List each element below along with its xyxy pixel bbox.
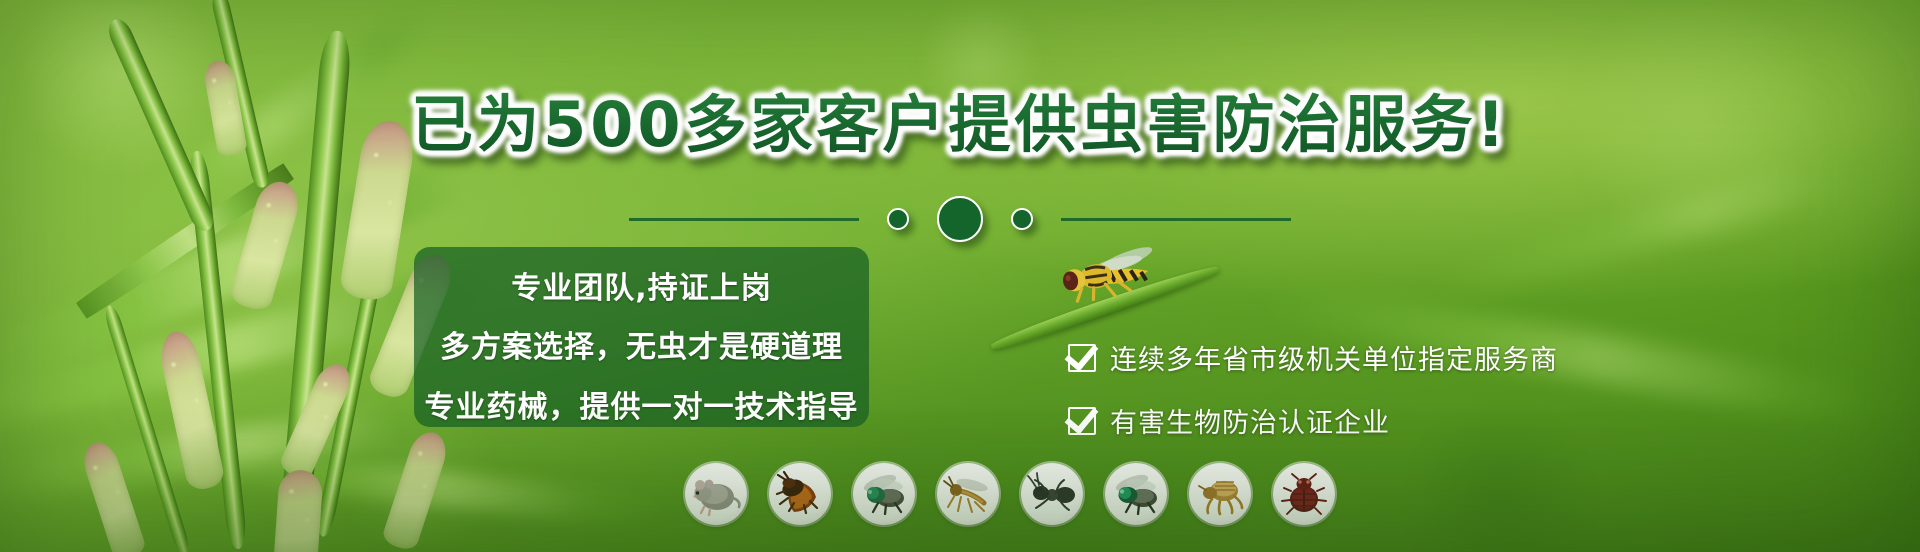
cockroach-icon[interactable] <box>769 463 831 525</box>
selling-point-line-1: 专业团队,持证上岗 <box>511 261 771 317</box>
promo-banner: 已为500多家客户提供虫害防治服务! 专业团队,持证上岗 多方案选择，无虫才是硬… <box>0 0 1920 552</box>
selling-points-panel: 专业团队,持证上岗 多方案选择，无虫才是硬道理 专业药械，提供一对一技术指导 <box>414 247 869 427</box>
list-item: 连续多年省市级机关单位指定服务商 <box>1068 338 1558 377</box>
mouse-icon[interactable] <box>685 463 747 525</box>
selling-point-line-3: 专业药械，提供一对一技术指导 <box>425 379 859 437</box>
page-title: 已为500多家客户提供虫害防治服务! <box>0 74 1920 164</box>
credentials-list: 连续多年省市级机关单位指定服务商 有害生物防治认证企业 <box>1068 338 1558 440</box>
credential-label: 有害生物防治认证企业 <box>1110 401 1390 440</box>
headline-text: 已为500多家客户提供虫害防治服务! <box>411 74 1509 164</box>
selling-point-line-2: 多方案选择，无虫才是硬道理 <box>440 319 843 377</box>
bedbug-icon[interactable] <box>1273 463 1335 525</box>
list-item: 有害生物防治认证企业 <box>1068 401 1558 440</box>
checkbox-checked-icon <box>1068 344 1096 372</box>
ant-icon[interactable] <box>1021 463 1083 525</box>
housefly-icon[interactable] <box>853 463 915 525</box>
blowfly-icon[interactable] <box>1105 463 1167 525</box>
credential-label: 连续多年省市级机关单位指定服务商 <box>1110 338 1558 377</box>
flea-icon[interactable] <box>1189 463 1251 525</box>
pest-icon-strip <box>685 463 1335 525</box>
checkbox-checked-icon <box>1068 407 1096 435</box>
mosquito-icon[interactable] <box>937 463 999 525</box>
